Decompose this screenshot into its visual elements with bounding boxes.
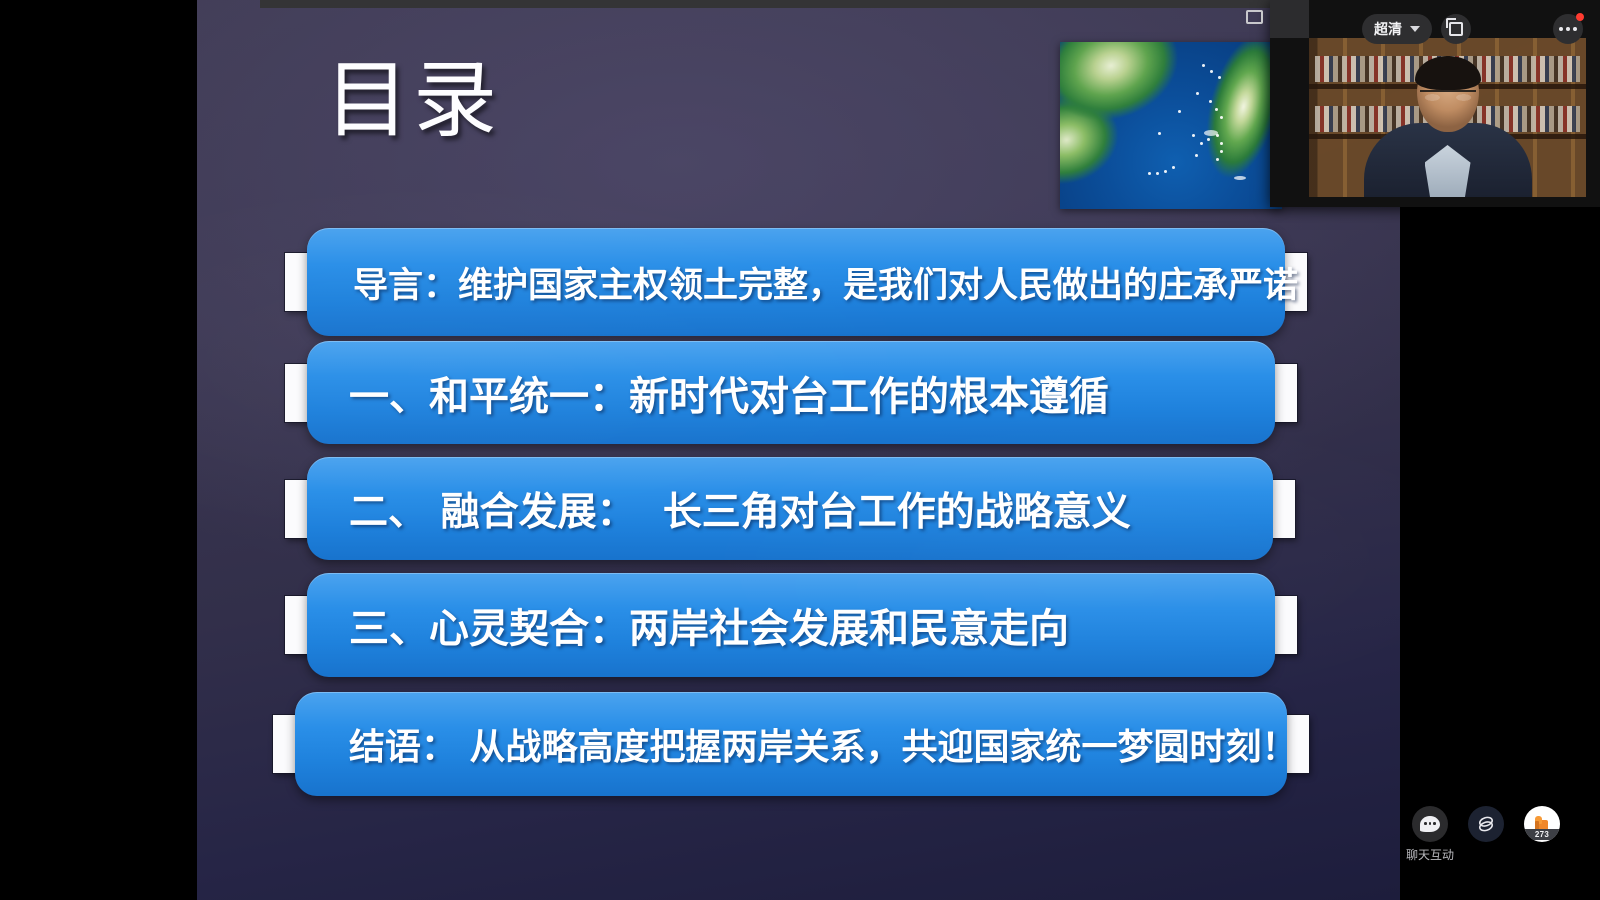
link-loop-icon [1475, 813, 1497, 835]
video-quality-label: 超清 [1374, 19, 1402, 39]
glasses-icon [1420, 90, 1476, 103]
list-item-label: 三、心灵契合：两岸社会发展和民意走向 [349, 596, 1069, 654]
toc-bar[interactable]: 导言：维护国家主权领土完整，是我们对人民做出的庄承严诺 [307, 228, 1285, 336]
toc-list: 导言：维护国家主权领土完整，是我们对人民做出的庄承严诺 一、和平统一：新时代对台… [197, 228, 1400, 818]
taiwan-strait-satellite-map [1060, 42, 1282, 209]
page-title: 目录 [325, 58, 501, 142]
chat-bubble-icon [1420, 816, 1440, 832]
pip-window-corner [1270, 0, 1309, 38]
toc-bar[interactable]: 结语： 从战略高度把握两岸关系，共迎国家统一梦圆时刻！ [295, 692, 1287, 796]
chevron-down-icon [1410, 26, 1420, 32]
chat-button[interactable]: 聊天互动 [1412, 806, 1448, 842]
slide-top-strip [260, 0, 1400, 8]
list-item[interactable]: 二、 融合发展： 长三角对台工作的战略意义 [197, 464, 1400, 582]
pip-toolbar: 超清 [1309, 0, 1600, 38]
list-item[interactable]: 导言：维护国家主权领土完整，是我们对人民做出的庄承严诺 [197, 228, 1400, 346]
action-bar: 聊天互动 273 [1412, 806, 1560, 842]
screen-share-icon[interactable] [1441, 14, 1471, 44]
list-item-label: 结语： 从战略高度把握两岸关系，共迎国家统一梦圆时刻！ [349, 718, 1298, 770]
toc-bar[interactable]: 三、心灵契合：两岸社会发展和民意走向 [307, 573, 1275, 677]
link-button[interactable] [1468, 806, 1504, 842]
more-horizontal-icon[interactable] [1553, 14, 1583, 44]
video-quality-selector[interactable]: 超清 [1362, 14, 1432, 44]
restore-window-icon[interactable] [1246, 10, 1263, 24]
list-item[interactable]: 一、和平统一：新时代对台工作的根本遵循 [197, 346, 1400, 464]
self-video-pip[interactable]: 超清 [1270, 0, 1600, 207]
video-feed [1309, 38, 1586, 197]
list-item-label: 二、 融合发展： 长三角对台工作的战略意义 [349, 481, 1131, 537]
screen-share-viewer: 目录 [0, 0, 1600, 900]
toc-bar[interactable]: 一、和平统一：新时代对台工作的根本遵循 [307, 341, 1275, 444]
chat-button-label: 聊天互动 [1406, 846, 1454, 863]
list-item-label: 一、和平统一：新时代对台工作的根本遵循 [349, 364, 1109, 422]
like-count: 273 [1524, 829, 1560, 840]
list-item[interactable]: 三、心灵契合：两岸社会发展和民意走向 [197, 582, 1400, 700]
notification-badge [1576, 13, 1584, 21]
list-item[interactable]: 结语： 从战略高度把握两岸关系，共迎国家统一梦圆时刻！ [197, 700, 1400, 818]
list-item-label: 导言：维护国家主权领土完整，是我们对人民做出的庄承严诺 [353, 257, 1298, 308]
like-button[interactable]: 273 [1524, 806, 1560, 842]
shared-slide[interactable]: 目录 [197, 0, 1400, 900]
participant-body [1364, 123, 1532, 197]
toc-bar[interactable]: 二、 融合发展： 长三角对台工作的战略意义 [307, 457, 1273, 560]
